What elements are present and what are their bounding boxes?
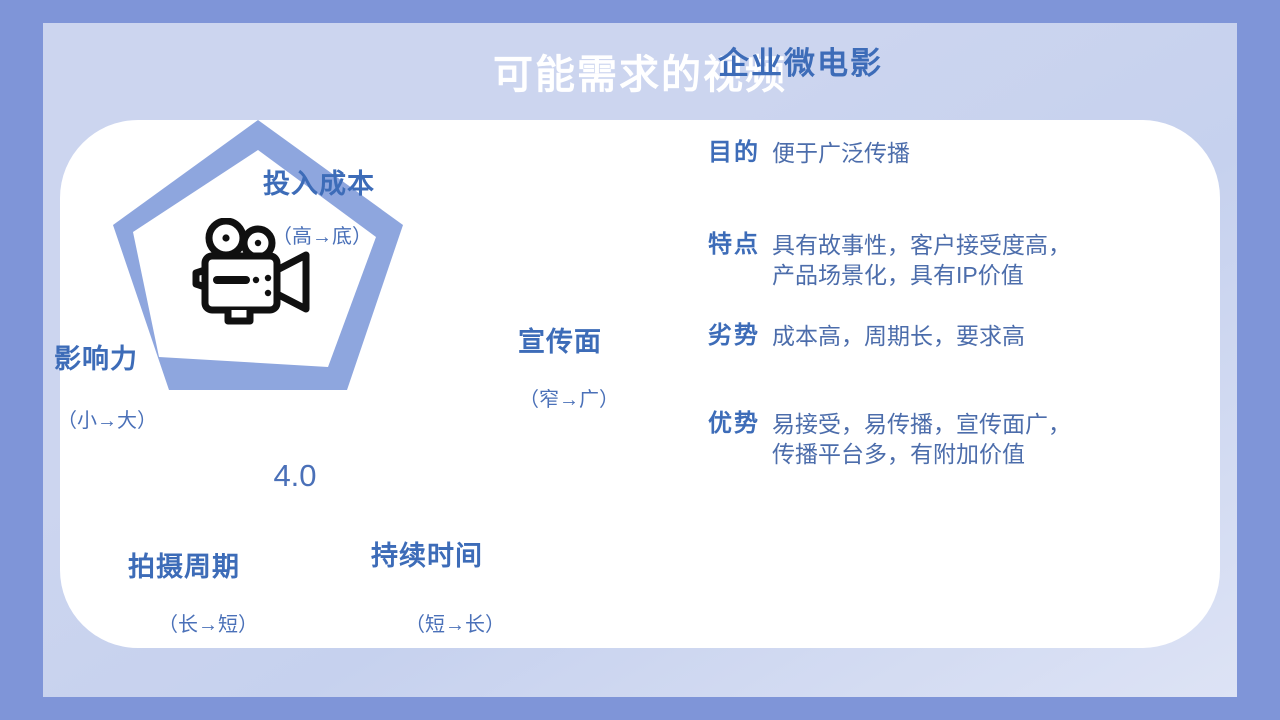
radar-axis-range-bottom-right: （短→长） xyxy=(405,608,505,637)
detail-row-value: 成本高，周期长，要求高 xyxy=(772,321,1220,351)
radar-axis-label-top: 投入成本 xyxy=(263,162,375,201)
detail-row-label: 特点 xyxy=(660,230,772,260)
detail-row-label: 劣势 xyxy=(660,321,772,351)
detail-row: 优势 易接受，易传播，宣传面广， 传播平台多，有附加价值 xyxy=(660,409,1220,469)
radar-axis-label-right: 宣传面 xyxy=(518,320,602,359)
detail-row: 特点 具有故事性，客户接受度高， 产品场景化，具有IP价值 xyxy=(660,230,1220,290)
radar-axis-range-right: （窄→广） xyxy=(519,383,619,412)
slide-canvas: 可能需求的视频 xyxy=(0,0,1280,720)
detail-row-value: 具有故事性，客户接受度高， 产品场景化，具有IP价值 xyxy=(772,230,1220,290)
radar-axis-label-bottom-left: 拍摄周期 xyxy=(128,545,240,584)
detail-row: 劣势 成本高，周期长，要求高 xyxy=(660,321,1220,351)
detail-row-value: 便于广泛传播 xyxy=(772,138,1220,168)
detail-row-value: 易接受，易传播，宣传面广， 传播平台多，有附加价值 xyxy=(772,409,1220,469)
radar-axis-range-bottom-left: （长→短） xyxy=(158,608,258,637)
detail-panel: 企业微电影 目的 便于广泛传播 特点 具有故事性，客户接受度高， 产品场景化，具… xyxy=(660,0,1220,528)
detail-row: 目的 便于广泛传播 xyxy=(660,138,1220,168)
radar-axis-range-left: （小→大） xyxy=(57,404,157,433)
radar-chart: 4.0 投入成本 （高→底） 宣传面 （窄→广） 持续时间 （短→长） 拍摄周期… xyxy=(0,0,660,528)
radar-center-value: 4.0 xyxy=(255,458,335,494)
radar-axis-label-bottom-right: 持续时间 xyxy=(371,534,483,573)
radar-axis-label-left: 影响力 xyxy=(54,337,138,376)
detail-title: 企业微电影 xyxy=(718,38,883,83)
detail-row-label: 优势 xyxy=(660,409,772,439)
detail-row-label: 目的 xyxy=(660,138,772,168)
radar-axis-range-top: （高→底） xyxy=(272,220,372,249)
